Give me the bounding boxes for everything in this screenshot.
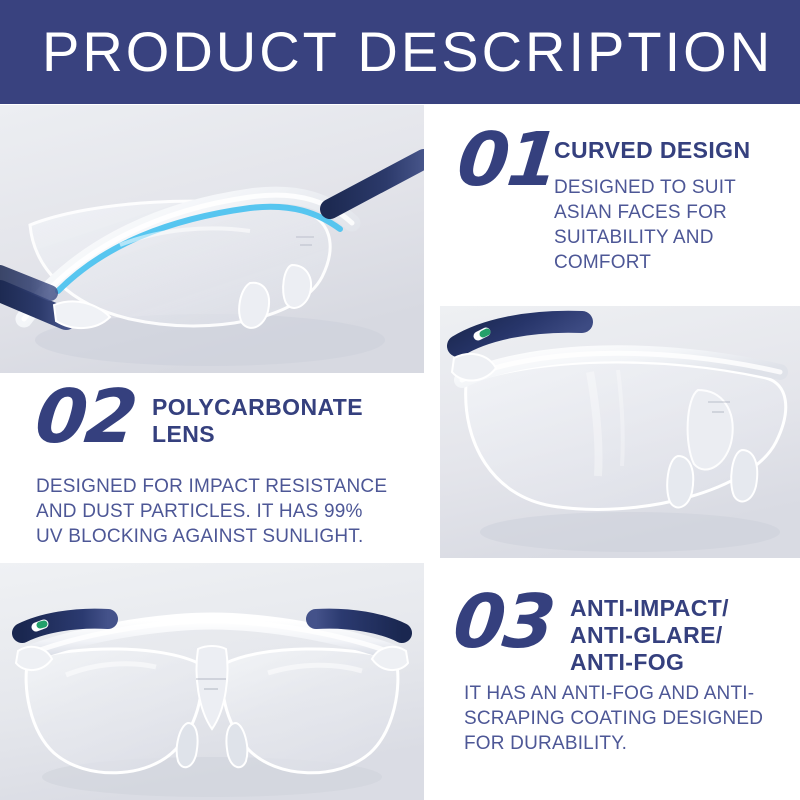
safety-glasses-front-view-image	[0, 563, 424, 800]
feature-block-01: 01 CURVED DESIGN DESIGNED TO SUIT ASIAN …	[440, 105, 800, 297]
product-photo-three-quarter	[440, 306, 800, 558]
feature-body-02: DESIGNED FOR IMPACT RESISTANCE AND DUST …	[36, 474, 418, 549]
feature-title-01: CURVED DESIGN	[554, 137, 800, 164]
page-header-banner: PRODUCT DESCRIPTION	[0, 0, 800, 104]
safety-glasses-angled-closeup-image	[0, 105, 424, 373]
infographic-page: PRODUCT DESCRIPTION	[0, 0, 800, 800]
product-photo-front-view	[0, 563, 424, 800]
feature-block-03: 03 ANTI-IMPACT/ ANTI-GLARE/ ANTI-FOG IT …	[440, 563, 800, 800]
feature-body-01: DESIGNED TO SUIT ASIAN FACES FOR SUITABI…	[554, 175, 800, 275]
feature-title-02: POLYCARBONATE LENS	[152, 394, 414, 448]
feature-body-03: IT HAS AN ANTI-FOG AND ANTI- SCRAPING CO…	[464, 681, 794, 756]
page-title: PRODUCT DESCRIPTION	[42, 16, 773, 88]
feature-number-02: 02	[32, 380, 139, 454]
feature-number-03: 03	[450, 585, 557, 659]
safety-glasses-three-quarter-view-image	[440, 306, 800, 558]
feature-number-01: 01	[454, 123, 561, 197]
feature-block-02: 02 POLYCARBONATE LENS DESIGNED FOR IMPAC…	[0, 376, 424, 558]
product-photo-angled-closeup	[0, 105, 424, 373]
feature-title-03: ANTI-IMPACT/ ANTI-GLARE/ ANTI-FOG	[570, 595, 800, 676]
